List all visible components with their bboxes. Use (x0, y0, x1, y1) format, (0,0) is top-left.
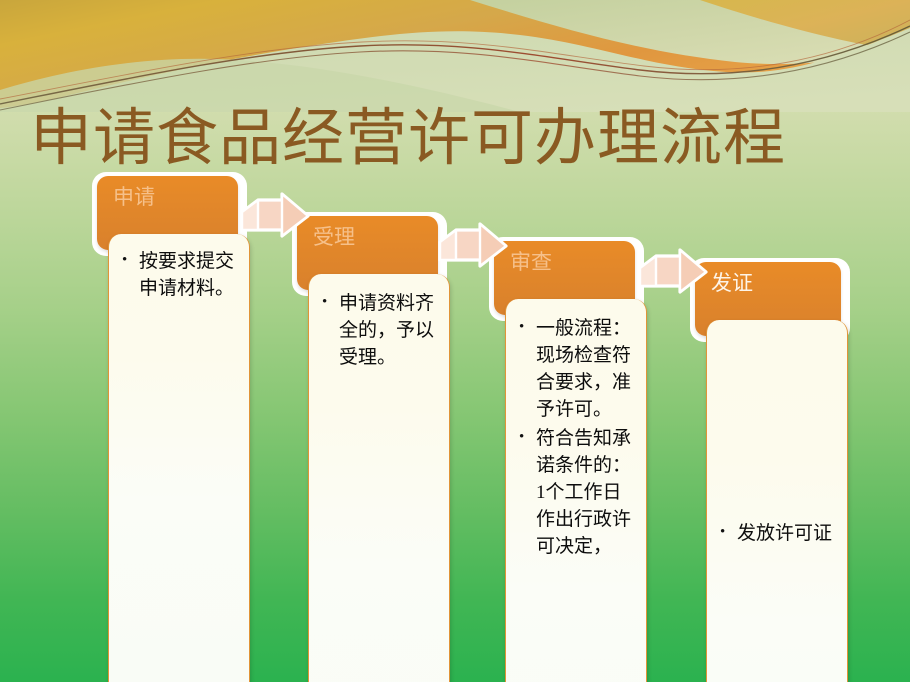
card-bullet-list: 发放许可证 (717, 520, 841, 547)
flow-step-card-4[interactable]: 发证 发放许可证 (690, 258, 855, 682)
card-bullet-list: 一般流程：现场检查符合要求，准予许可。 符合告知承诺条件的：1个工作日作出行政许… (516, 315, 640, 560)
card-body-content: 按要求提交申请材料。 (109, 234, 249, 304)
list-item: 符合告知承诺条件的：1个工作日作出行政许可决定， (516, 425, 640, 560)
arrow-connector-1 (238, 192, 312, 254)
card-header-label: 受理 (313, 224, 355, 250)
slide-canvas: 申请食品经营许可办理流程 申请 按要求提交申请材料。 受理 (0, 0, 910, 682)
decorative-wave-banner (0, 0, 910, 112)
list-item: 按要求提交申请材料。 (119, 248, 243, 302)
card-body-content: 发放许可证 (707, 320, 847, 549)
flow-step-card-2[interactable]: 受理 申请资料齐全的，予以受理。 (292, 212, 452, 634)
card-body-content: 申请资料齐全的，予以受理。 (309, 274, 449, 373)
list-item: 一般流程：现场检查符合要求，准予许可。 (516, 315, 640, 423)
card-header-label: 审查 (510, 249, 552, 275)
arrow-connector-2 (436, 222, 510, 284)
card-body-pillar: 按要求提交申请材料。 (108, 234, 250, 682)
card-body-content: 一般流程：现场检查符合要求，准予许可。 符合告知承诺条件的：1个工作日作出行政许… (506, 299, 646, 562)
right-arrow-icon (636, 248, 710, 310)
card-bullet-list: 按要求提交申请材料。 (119, 248, 243, 302)
list-item: 发放许可证 (717, 520, 841, 547)
flow-step-card-1[interactable]: 申请 按要求提交申请材料。 (92, 172, 252, 574)
page-title: 申请食品经营许可办理流程 (30, 104, 890, 172)
card-body-pillar: 发放许可证 (706, 320, 848, 682)
card-body-pillar: 一般流程：现场检查符合要求，准予许可。 符合告知承诺条件的：1个工作日作出行政许… (505, 299, 647, 682)
card-bullet-list: 申请资料齐全的，予以受理。 (319, 290, 443, 371)
wave-graphic (0, 0, 910, 112)
list-item: 申请资料齐全的，予以受理。 (319, 290, 443, 371)
card-header-label: 申请 (113, 184, 155, 210)
card-body-pillar: 申请资料齐全的，予以受理。 (308, 274, 450, 682)
right-arrow-icon (436, 222, 510, 284)
flow-step-card-3[interactable]: 审查 一般流程：现场检查符合要求，准予许可。 符合告知承诺条件的：1个工作日作出… (489, 237, 649, 657)
right-arrow-icon (238, 192, 312, 254)
arrow-connector-3 (636, 248, 710, 310)
card-header-label: 发证 (711, 270, 753, 296)
